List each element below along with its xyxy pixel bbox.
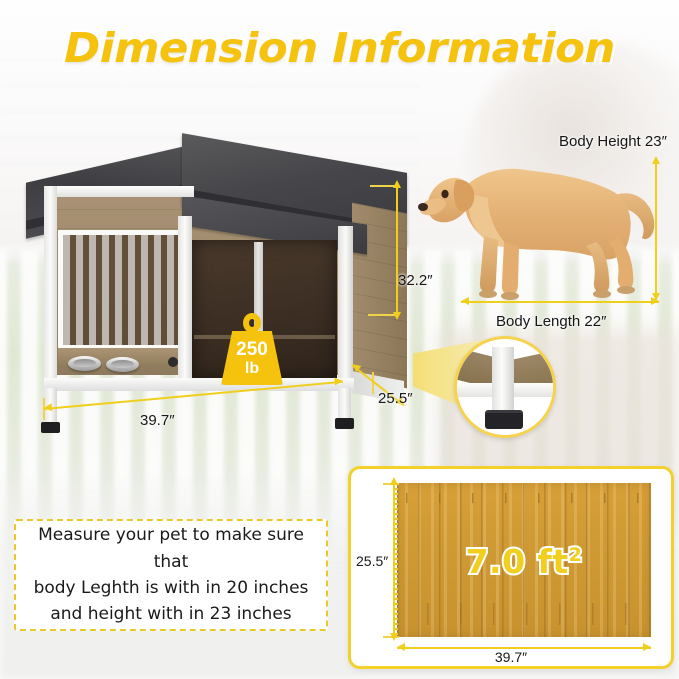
floor-height-arrow (389, 483, 399, 637)
bowl-inner (111, 360, 134, 368)
arrowhead-down (390, 633, 398, 641)
arrow-shaft (396, 186, 398, 316)
note-line-3: and height with in 23 inches (50, 604, 291, 624)
plank-detail-bottom (397, 603, 651, 625)
magnifier-inset (454, 336, 556, 438)
magnified-leg (492, 347, 514, 419)
feeding-bowl (106, 357, 139, 372)
body-height-label: Body Height 23″ (559, 133, 667, 150)
weight-value: 250 (221, 340, 283, 359)
area-number: 7.0 ft (466, 542, 569, 581)
measurement-note-box: Measure your pet to make sure that body … (14, 519, 328, 631)
magnified-foot-cap (485, 413, 523, 429)
width-dimension-label: 39.7″ (140, 412, 175, 429)
infographic-canvas: Dimension Information (0, 0, 679, 679)
frame-post-middle (178, 216, 192, 391)
depth-dimension-label: 25.5″ (378, 390, 413, 407)
floor-area-panel: 7.0 ft2 39.7″ (348, 466, 674, 669)
house-foot-right (335, 418, 354, 429)
railing-knob (168, 357, 178, 367)
area-exponent: 2 (569, 544, 583, 566)
body-length-arrow (461, 297, 659, 307)
feeding-bowl (68, 356, 101, 371)
note-line-1: Measure your pet to make sure that (38, 525, 304, 571)
arrowhead-left (461, 297, 469, 305)
arrow-shaft (393, 483, 395, 637)
arrowhead-left (44, 403, 53, 412)
arrowhead-up (390, 477, 398, 485)
house-foot-left (41, 422, 60, 433)
note-line-2: body Leghth is with in 20 inches (34, 578, 309, 598)
house-railing (58, 230, 183, 350)
frame-top-rail (44, 186, 194, 197)
arrowhead-right (334, 377, 343, 386)
arrow-shaft (655, 162, 657, 297)
plank-detail-top (397, 493, 651, 503)
arrow-shaft (461, 301, 659, 303)
measurement-note-text: Measure your pet to make sure that body … (16, 522, 326, 627)
arrowhead-right (651, 297, 659, 305)
bowl-inner (73, 359, 96, 367)
floor-area-value: 7.0 ft2 (397, 542, 651, 581)
arrowhead-up (652, 156, 660, 164)
floor-height-label: 25.5″ (356, 553, 388, 569)
height-dimension-arrow (392, 186, 402, 316)
dog-house-illustration (22, 150, 402, 415)
arrowhead-down (393, 312, 401, 320)
dog-illustration (418, 150, 658, 310)
page-title: Dimension Information (0, 24, 679, 72)
railing-frame (58, 230, 183, 350)
body-length-label: Body Length 22″ (496, 313, 606, 330)
floor-width-label: 39.7″ (351, 649, 671, 665)
arrowhead-up (393, 180, 401, 188)
weight-icon-ring (243, 313, 261, 333)
golden-retriever-icon (418, 150, 658, 310)
frame-post-left (44, 186, 57, 391)
body-height-arrow (651, 162, 661, 297)
